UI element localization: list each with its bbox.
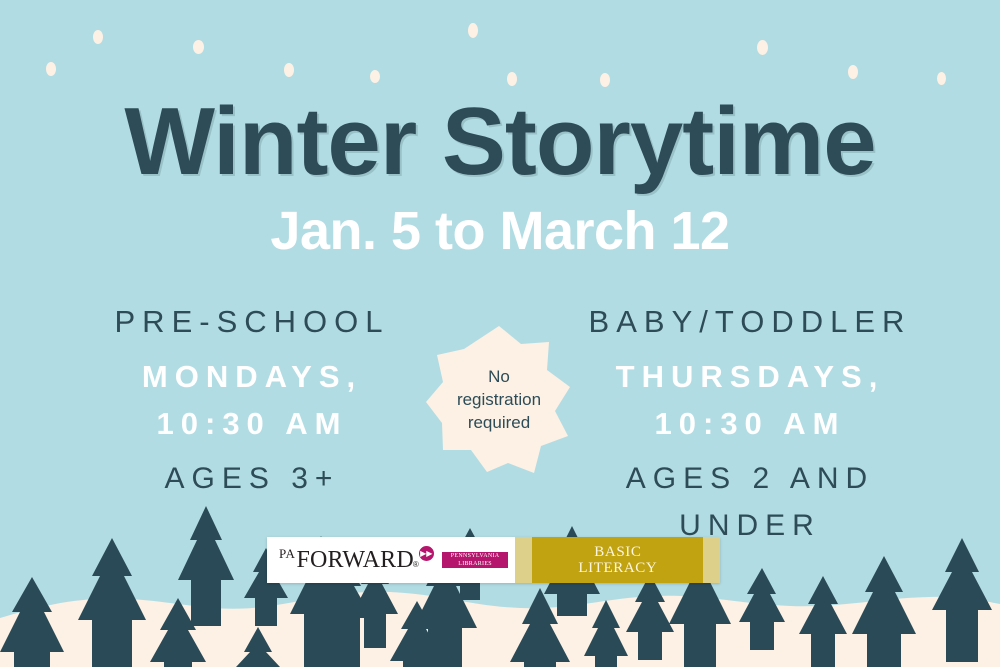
no-registration-badge: No registration required [424, 324, 574, 474]
baby-toddler-day: THURSDAYS, [540, 353, 960, 400]
baby-toddler-time: 10:30 AM [540, 400, 960, 447]
gold-strip-right [703, 537, 720, 583]
spacer [540, 345, 960, 353]
snow-dot [193, 40, 204, 54]
badge-line-3: required [468, 411, 530, 434]
snowbank [0, 592, 1000, 667]
badge-line-1: No [488, 365, 510, 388]
spacer [540, 447, 960, 455]
badge-text: No registration required [424, 324, 574, 474]
basic-literacy-panel: BASIC LITERACY [532, 537, 703, 583]
literacy-text: LITERACY [578, 560, 657, 576]
preschool-heading: PRE-SCHOOL [42, 298, 462, 345]
basic-text: BASIC [594, 544, 641, 560]
snow-dot [507, 72, 517, 86]
snow-dot [93, 30, 103, 44]
spacer [42, 345, 462, 353]
poster-canvas: Winter Storytime Jan. 5 to March 12 PRE-… [0, 0, 1000, 667]
pa-forward-logo-bar: PA FORWARD ® ▶▶ PENNSYLVANIA LIBRARIES B… [267, 537, 720, 583]
page-title: Winter Storytime [0, 92, 1000, 192]
snow-dot [757, 40, 768, 55]
registered-mark: ® [413, 560, 419, 569]
snow-dot [284, 63, 294, 77]
date-range-subtitle: Jan. 5 to March 12 [0, 202, 1000, 260]
pa-libraries-line-2: LIBRARIES [458, 560, 492, 568]
snow-dot [937, 72, 946, 85]
snow-dot [848, 65, 858, 79]
pa-forward-logo: PA FORWARD ® ▶▶ PENNSYLVANIA LIBRARIES [267, 537, 515, 583]
preschool-day: MONDAYS, [42, 353, 462, 400]
baby-toddler-heading: BABY/TODDLER [540, 298, 960, 345]
pennsylvania-libraries-logo: PENNSYLVANIA LIBRARIES [442, 552, 509, 568]
pa-text: PA [279, 546, 295, 562]
snow-dot [468, 23, 478, 38]
preschool-session-block: PRE-SCHOOL MONDAYS, 10:30 AM AGES 3+ [42, 298, 462, 502]
preschool-time: 10:30 AM [42, 400, 462, 447]
spacer [42, 447, 462, 455]
gold-strip-left [515, 537, 532, 583]
fast-forward-icon: ▶▶ [419, 546, 434, 561]
snow-dot [46, 62, 56, 76]
forward-text: FORWARD [296, 547, 413, 574]
pa-libraries-line-1: PENNSYLVANIA [451, 552, 500, 560]
badge-line-2: registration [457, 388, 541, 411]
snow-dot [600, 73, 610, 87]
snow-dot [370, 70, 380, 83]
